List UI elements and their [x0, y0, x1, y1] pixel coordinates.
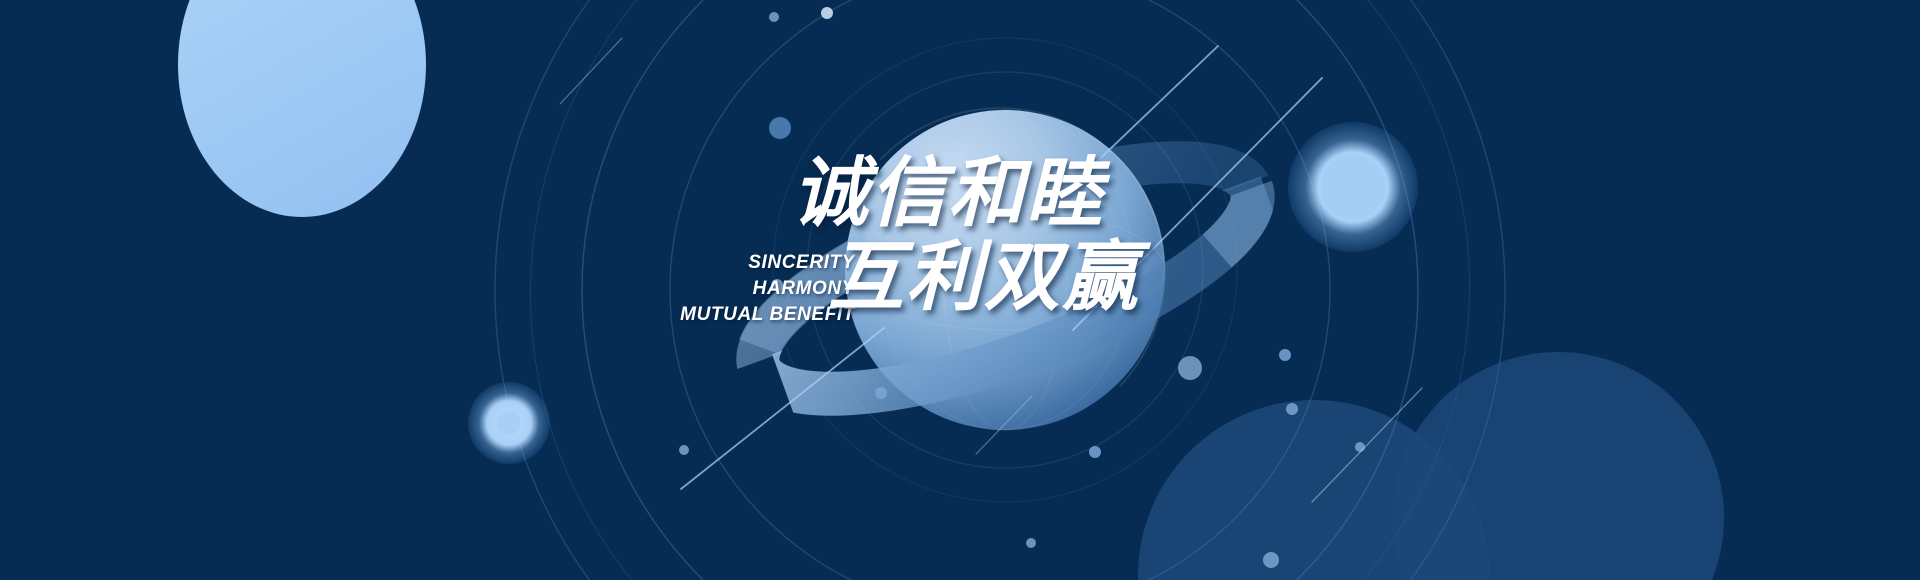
headline-block: SINCERITY HARMONY MUTUAL BENEFIT 诚信和睦 互利… [640, 150, 1360, 370]
streak-bottom [976, 396, 1032, 454]
glow-orb-small-core [497, 411, 521, 435]
glow-orb-small [468, 382, 550, 464]
circle-top-left-large [178, 0, 426, 217]
english-line-mutual-benefit: MUTUAL BENEFIT [640, 302, 855, 328]
orbit-dot-3 [769, 12, 779, 22]
orbit-dot-12 [1026, 538, 1036, 548]
streak-left-short [560, 38, 622, 104]
orbit-dot-9 [1089, 446, 1101, 458]
orbit-dot-5 [679, 445, 689, 455]
english-line-sincerity: SINCERITY [640, 250, 855, 276]
headline-line-2: 互利双赢 [828, 238, 1140, 318]
orbit-dot-4 [821, 7, 833, 19]
orbit-dot-1 [769, 117, 791, 139]
orbit-dot-6 [875, 387, 887, 399]
english-line-harmony: HARMONY [640, 276, 855, 302]
headline-line-1: 诚信和睦 [792, 154, 1104, 234]
hero-banner: SINCERITY HARMONY MUTUAL BENEFIT 诚信和睦 互利… [0, 0, 1920, 580]
english-subtext: SINCERITY HARMONY MUTUAL BENEFIT [640, 250, 855, 328]
